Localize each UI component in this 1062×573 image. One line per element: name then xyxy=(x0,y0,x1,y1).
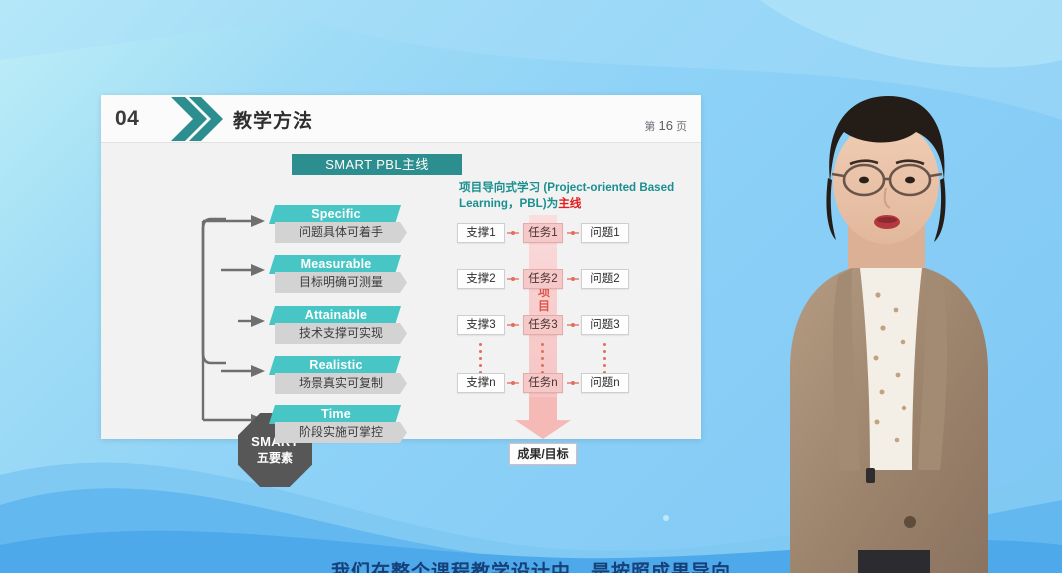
smart-tag-label: Realistic xyxy=(269,356,401,375)
result-node: 成果/目标 xyxy=(509,443,577,465)
section-number: 04 xyxy=(115,107,139,131)
problem-node: 问题1 xyxy=(581,223,629,243)
smart-item-specific: Specific 问题具体可着手 xyxy=(269,205,401,243)
subtitle-text: 我们在整个课程教学设计中，是按照成果导向 xyxy=(0,557,1062,573)
smart-item-attainable: Attainable 技术支撑可实现 xyxy=(269,306,401,344)
task-node: 任务3 xyxy=(523,315,563,335)
task-node: 任务n xyxy=(523,373,563,393)
smart-desc-label: 目标明确可测量 xyxy=(275,272,407,293)
video-frame: 04 教学方法 第 16 页 SMART PBL主线 xyxy=(0,0,1062,573)
task-node: 任务1 xyxy=(523,223,563,243)
task-node: 任务2 xyxy=(523,269,563,289)
page-suffix: 页 xyxy=(676,121,687,133)
page-number: 16 xyxy=(658,118,672,133)
pbl-diagram: 项目 支撑1 任务1 xyxy=(453,223,701,439)
support-node: 支撑n xyxy=(457,373,505,393)
problem-node: 问题n xyxy=(581,373,629,393)
page-prefix: 第 xyxy=(644,121,655,133)
smart-item-measurable: Measurable 目标明确可测量 xyxy=(269,255,401,293)
subtitle-bar: 我们在整个课程教学设计中，是按照成果导向 xyxy=(0,557,1062,573)
smart-desc-label: 技术支撑可实现 xyxy=(275,323,407,344)
problem-node: 问题2 xyxy=(581,269,629,289)
page-title: 教学方法 xyxy=(233,106,313,133)
presentation-slide: 04 教学方法 第 16 页 SMART PBL主线 xyxy=(101,95,701,439)
smart-hub-line2: 五要素 xyxy=(257,451,293,466)
smart-desc-label: 问题具体可着手 xyxy=(275,222,407,243)
page-indicator: 第 16 页 xyxy=(644,118,687,134)
problem-node: 问题3 xyxy=(581,315,629,335)
support-node: 支撑2 xyxy=(457,269,505,289)
presenter-video xyxy=(720,70,1062,573)
smart-item-realistic: Realistic 场景真实可复制 xyxy=(269,356,401,394)
slide-header: 04 教学方法 第 16 页 xyxy=(101,95,701,143)
pbl-heading-highlight: 主线 xyxy=(558,197,581,210)
smart-tag-label: Attainable xyxy=(269,306,401,325)
smart-tag-label: Measurable xyxy=(269,255,401,274)
slide-body: SMART PBL主线 xyxy=(101,143,701,439)
support-node: 支撑1 xyxy=(457,223,505,243)
chevron-right-icon xyxy=(171,95,223,143)
smart-tag-label: Time xyxy=(269,405,401,424)
support-node: 支撑3 xyxy=(457,315,505,335)
smart-desc-label: 场景真实可复制 xyxy=(275,373,407,394)
smart-desc-label: 阶段实施可掌控 xyxy=(275,422,407,443)
smart-item-time: Time 阶段实施可掌控 xyxy=(269,405,401,443)
smart-tag-label: Specific xyxy=(269,205,401,224)
pbl-heading: 项目导向式学习 (Project-oriented Based Learning… xyxy=(459,180,697,211)
